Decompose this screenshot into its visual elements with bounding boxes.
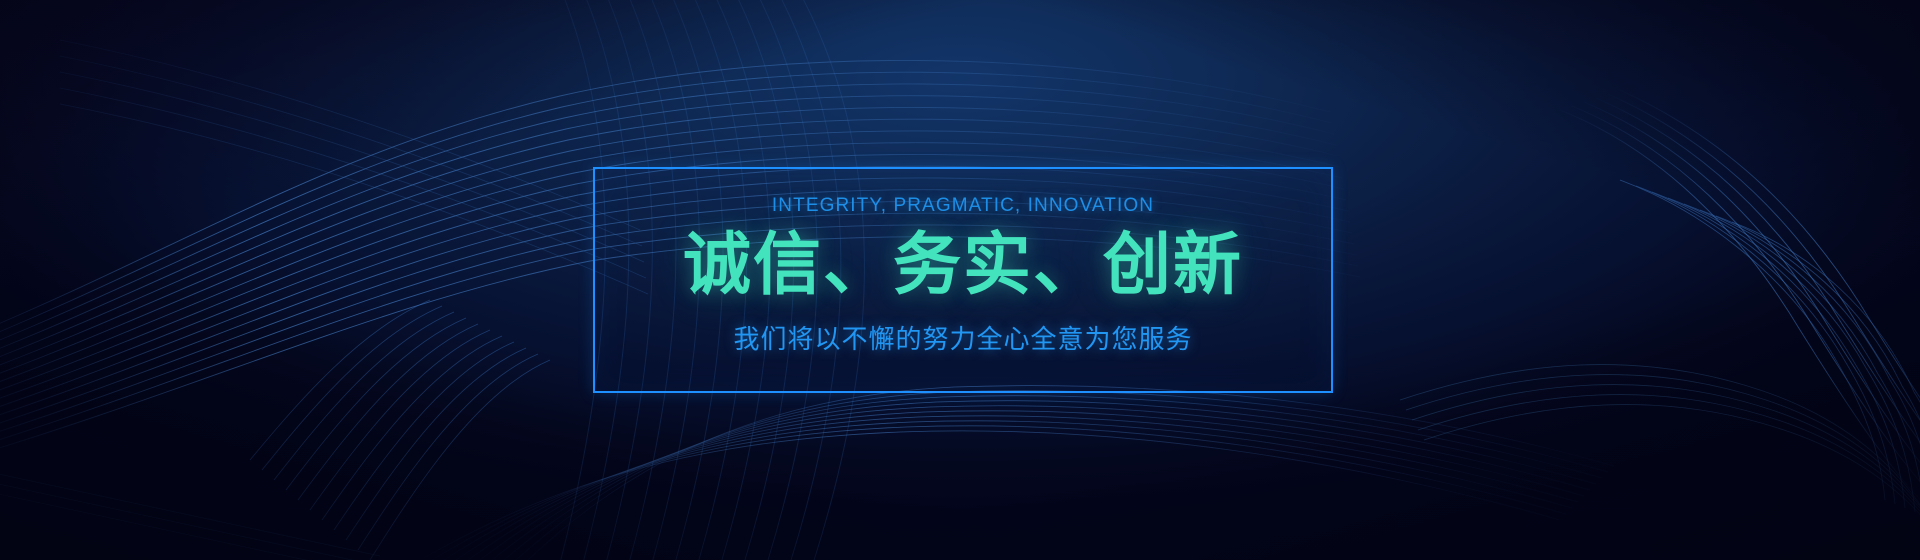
- hero-banner: INTEGRITY, PRAGMATIC, INNOVATION 诚信、务实、创…: [0, 0, 1920, 560]
- slogan-frame: INTEGRITY, PRAGMATIC, INNOVATION 诚信、务实、创…: [593, 167, 1333, 393]
- main-headline: 诚信、务实、创新: [683, 225, 1243, 305]
- service-tagline: 我们将以不懈的努力全心全意为您服务: [733, 319, 1192, 356]
- english-slogan: INTEGRITY, PRAGMATIC, INNOVATION: [772, 195, 1154, 217]
